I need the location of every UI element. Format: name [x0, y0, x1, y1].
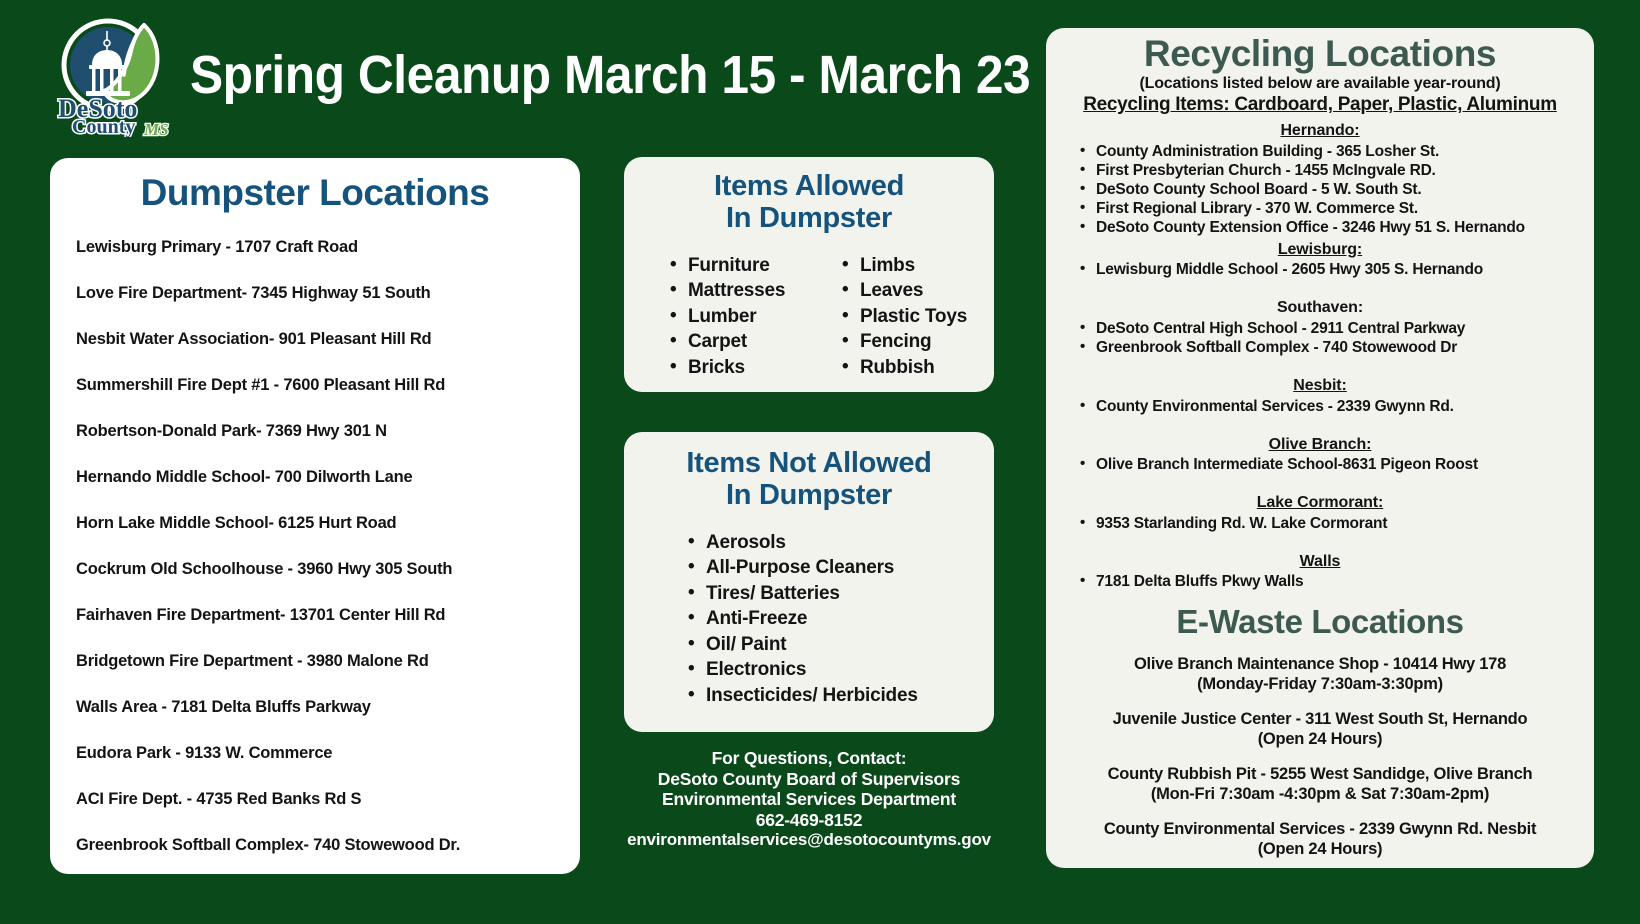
page-title: Spring Cleanup March 15 - March 23 [190, 47, 1030, 104]
items-allowed-column-right: LimbsLeavesPlastic ToysFencingRubbish [842, 253, 967, 381]
contact-phone[interactable]: 662-469-8152 [624, 810, 994, 831]
items-not-allowed-card: Items Not Allowed In Dumpster AerosolsAl… [624, 432, 994, 732]
items-allowed-title-line1: Items Allowed [636, 171, 982, 203]
ewaste-entry-hours: (Monday-Friday 7:30am-3:30pm) [1054, 674, 1586, 695]
recycling-location-item: DeSoto County Extension Office - 3246 Hw… [1080, 218, 1586, 237]
ewaste-entry-name: Olive Branch Maintenance Shop - 10414 Hw… [1054, 654, 1586, 675]
ewaste-entry: Olive Branch Maintenance Shop - 10414 Hw… [1054, 654, 1586, 695]
recycling-location-item: Olive Branch Intermediate School-8631 Pi… [1080, 455, 1586, 474]
dumpster-location-item: Fairhaven Fire Department- 13701 Center … [76, 592, 564, 638]
recycling-group: Nesbit:County Environmental Services - 2… [1054, 375, 1586, 416]
spacer [1054, 474, 1586, 490]
ewaste-entry-hours: (Open 24 Hours) [1054, 839, 1586, 860]
allowed-item: Furniture [670, 253, 842, 279]
desoto-county-ms-logo: DeSoto County MS [52, 13, 176, 137]
dumpster-location-item: Greenbrook Softball Complex- 740 Stowewo… [76, 822, 564, 868]
allowed-item: Plastic Toys [842, 304, 967, 330]
allowed-item: Mattresses [670, 278, 842, 304]
allowed-item: Lumber [670, 304, 842, 330]
logo-text-county: County [72, 116, 135, 137]
recycling-group: Hernando:County Administration Building … [1054, 120, 1586, 237]
recycling-location-item: DeSoto County School Board - 5 W. South … [1080, 180, 1586, 199]
recycling-location-item: DeSoto Central High School - 2911 Centra… [1080, 319, 1586, 338]
dumpster-location-item: Eudora Park - 9133 W. Commerce [76, 730, 564, 776]
allowed-item: Bricks [670, 355, 842, 381]
ewaste-entries: Olive Branch Maintenance Shop - 10414 Hw… [1054, 654, 1586, 860]
ewaste-entry-hours: (Open 24 Hours) [1054, 729, 1586, 750]
dumpster-location-item: ACI Fire Dept. - 4735 Red Banks Rd S [76, 776, 564, 822]
recycling-group: Lewisburg:Lewisburg Middle School - 2605… [1054, 239, 1586, 280]
dumpster-location-item: Nesbit Water Association- 901 Pleasant H… [76, 316, 564, 362]
recycling-group-list: County Administration Building - 365 Los… [1054, 142, 1586, 237]
recycling-location-item: Greenbrook Softball Complex - 740 Stowew… [1080, 338, 1586, 357]
dumpster-location-item: Horn Lake Middle School- 6125 Hurt Road [76, 500, 564, 546]
dumpster-locations-card: Dumpster Locations Lewisburg Primary - 1… [50, 158, 580, 874]
items-allowed-title: Items Allowed In Dumpster [636, 171, 982, 235]
dumpster-location-item: Cockrum Old Schoolhouse - 3960 Hwy 305 S… [76, 546, 564, 592]
ewaste-entry-name: County Rubbish Pit - 5255 West Sandidge,… [1054, 764, 1586, 785]
recycling-group-heading: Walls [1054, 551, 1586, 573]
recycling-location-item: 9353 Starlanding Rd. W. Lake Cormorant [1080, 514, 1586, 533]
recycling-group-heading: Olive Branch: [1054, 434, 1586, 456]
recycling-groups: Hernando:County Administration Building … [1054, 120, 1586, 607]
allowed-item: Carpet [670, 329, 842, 355]
items-not-allowed-title-line1: Items Not Allowed [636, 448, 982, 480]
recycling-group-heading: Lewisburg: [1054, 239, 1586, 261]
not-allowed-item: Insecticides/ Herbicides [688, 683, 982, 709]
allowed-item: Leaves [842, 278, 967, 304]
items-not-allowed-list-wrap: AerosolsAll-Purpose CleanersTires/ Batte… [636, 530, 982, 709]
recycling-group-list: Olive Branch Intermediate School-8631 Pi… [1054, 455, 1586, 474]
spacer [1054, 279, 1586, 295]
recycling-group-heading: Southaven: [1054, 297, 1586, 319]
recycling-locations-card: Recycling Locations (Locations listed be… [1046, 28, 1594, 868]
ewaste-entry: County Environmental Services - 2339 Gwy… [1054, 819, 1586, 860]
recycling-locations-title: Recycling Locations [1054, 34, 1586, 74]
recycling-location-item: Lewisburg Middle School - 2605 Hwy 305 S… [1080, 260, 1586, 279]
dumpster-location-item: Summershill Fire Dept #1 - 7600 Pleasant… [76, 362, 564, 408]
not-allowed-item: Electronics [688, 657, 982, 683]
items-not-allowed-title: Items Not Allowed In Dumpster [636, 448, 982, 512]
dumpster-location-item: Walls Area - 7181 Delta Bluffs Parkway [76, 684, 564, 730]
allowed-item: Limbs [842, 253, 967, 279]
recycling-items-line: Recycling Items: Cardboard, Paper, Plast… [1054, 93, 1586, 118]
recycling-group: Olive Branch:Olive Branch Intermediate S… [1054, 434, 1586, 475]
recycling-group-list: County Environmental Services - 2339 Gwy… [1054, 397, 1586, 416]
recycling-group: Southaven:DeSoto Central High School - 2… [1054, 297, 1586, 357]
not-allowed-item: Tires/ Batteries [688, 581, 982, 607]
contact-block: For Questions, Contact: DeSoto County Bo… [624, 748, 994, 851]
ewaste-entry-name: Juvenile Justice Center - 311 West South… [1054, 709, 1586, 730]
logo-text-ms: MS [143, 120, 169, 137]
dumpster-location-item: Lewisburg Primary - 1707 Craft Road [76, 224, 564, 270]
spacer [1054, 416, 1586, 432]
dumpster-location-item: Robertson-Donald Park- 7369 Hwy 301 N [76, 408, 564, 454]
recycling-group-heading: Nesbit: [1054, 375, 1586, 397]
poster-header: DeSoto County MS Spring Cleanup March 15… [0, 0, 1100, 150]
dumpster-location-item: Bridgetown Fire Department - 3980 Malone… [76, 638, 564, 684]
items-not-allowed-list: AerosolsAll-Purpose CleanersTires/ Batte… [688, 530, 982, 709]
recycling-location-item: First Presbyterian Church - 1455 McIngva… [1080, 161, 1586, 180]
contact-organization: DeSoto County Board of Supervisors [624, 769, 994, 790]
allowed-item: Rubbish [842, 355, 967, 381]
spring-cleanup-flyer: DeSoto County MS Spring Cleanup March 15… [0, 0, 1640, 924]
dumpster-location-item: Love Fire Department- 7345 Highway 51 So… [76, 270, 564, 316]
ewaste-entry-name: County Environmental Services - 2339 Gwy… [1054, 819, 1586, 840]
recycling-group-list: DeSoto Central High School - 2911 Centra… [1054, 319, 1586, 357]
recycling-subtitle: (Locations listed below are available ye… [1054, 74, 1586, 94]
ewaste-entry: Juvenile Justice Center - 311 West South… [1054, 709, 1586, 750]
contact-heading: For Questions, Contact: [624, 748, 994, 769]
recycling-group: Walls7181 Delta Bluffs Pkwy Walls [1054, 551, 1586, 592]
items-not-allowed-title-line2: In Dumpster [636, 480, 982, 512]
ewaste-locations-title: E-Waste Locations [1054, 605, 1586, 640]
items-allowed-title-line2: In Dumpster [636, 203, 982, 235]
not-allowed-item: All-Purpose Cleaners [688, 555, 982, 581]
spacer [1054, 357, 1586, 373]
items-allowed-columns: FurnitureMattressesLumberCarpetBricks Li… [636, 253, 982, 381]
recycling-location-item: County Administration Building - 365 Los… [1080, 142, 1586, 161]
contact-email[interactable]: environmentalservices@desotocountyms.gov [624, 830, 994, 851]
recycling-group-list: Lewisburg Middle School - 2605 Hwy 305 S… [1054, 260, 1586, 279]
items-allowed-card: Items Allowed In Dumpster FurnitureMattr… [624, 157, 994, 392]
dumpster-locations-title: Dumpster Locations [66, 172, 564, 214]
recycling-group-list: 7181 Delta Bluffs Pkwy Walls [1054, 572, 1586, 591]
recycling-group-list: 9353 Starlanding Rd. W. Lake Cormorant [1054, 514, 1586, 533]
not-allowed-item: Oil/ Paint [688, 632, 982, 658]
recycling-location-item: First Regional Library - 370 W. Commerce… [1080, 199, 1586, 218]
recycling-location-item: County Environmental Services - 2339 Gwy… [1080, 397, 1586, 416]
not-allowed-item: Anti-Freeze [688, 606, 982, 632]
items-allowed-column-left: FurnitureMattressesLumberCarpetBricks [670, 253, 842, 381]
spacer [1054, 533, 1586, 549]
not-allowed-item: Aerosols [688, 530, 982, 556]
recycling-group-heading: Lake Cormorant: [1054, 492, 1586, 514]
ewaste-entry-hours: (Mon-Fri 7:30am -4:30pm & Sat 7:30am-2pm… [1054, 784, 1586, 805]
dumpster-locations-list: Lewisburg Primary - 1707 Craft RoadLove … [66, 224, 564, 868]
allowed-item: Fencing [842, 329, 967, 355]
dumpster-location-item: Hernando Middle School- 700 Dilworth Lan… [76, 454, 564, 500]
recycling-group: Lake Cormorant:9353 Starlanding Rd. W. L… [1054, 492, 1586, 533]
ewaste-entry: County Rubbish Pit - 5255 West Sandidge,… [1054, 764, 1586, 805]
contact-department: Environmental Services Department [624, 789, 994, 810]
recycling-location-item: 7181 Delta Bluffs Pkwy Walls [1080, 572, 1586, 591]
recycling-group-heading: Hernando: [1054, 120, 1586, 142]
